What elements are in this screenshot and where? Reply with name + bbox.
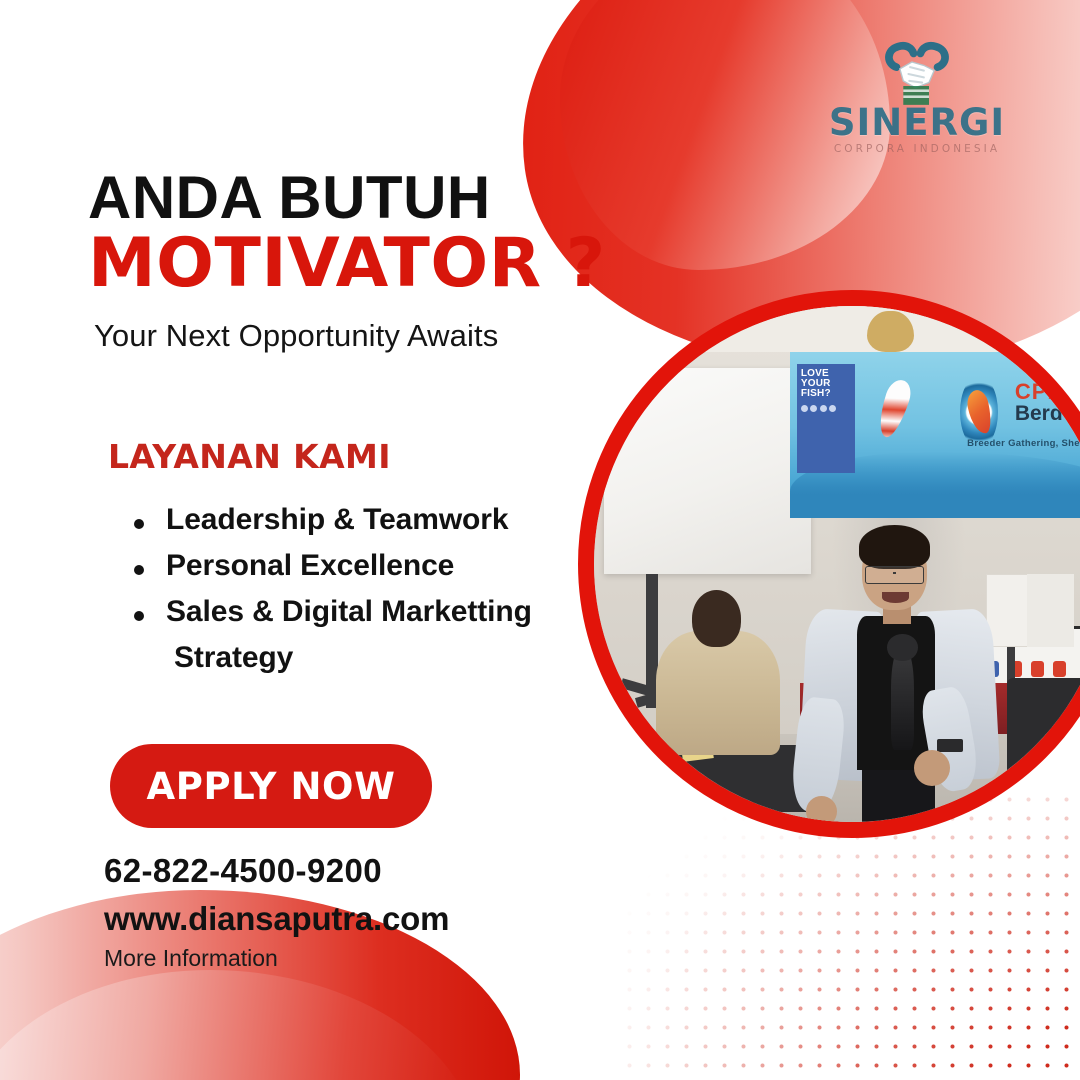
sponsor-mark xyxy=(1031,661,1044,677)
room-ceiling xyxy=(594,306,1080,352)
speaker-glasses xyxy=(865,566,923,584)
speaker-smile xyxy=(882,592,909,603)
headline-line-2: MOTIVATOR ? xyxy=(88,228,606,299)
banner-love-line3: FISH? xyxy=(801,389,851,399)
speaker-hair xyxy=(859,525,930,568)
list-item: Leadership & Teamwork xyxy=(128,497,532,543)
services-heading: LAYANAN KAMI xyxy=(108,437,391,476)
banner-dot xyxy=(820,405,827,412)
banner-dot xyxy=(801,405,808,412)
speaker-wristwatch xyxy=(937,739,963,751)
event-backdrop-banner: LOVE YOUR FISH? CPP Berd Breeder Gatheri… xyxy=(790,352,1080,517)
headline-subtitle: Your Next Opportunity Awaits xyxy=(94,318,498,354)
chair-right xyxy=(1007,678,1080,812)
projection-screen xyxy=(604,368,810,574)
brand-logo: SINERGI CORPORA INDONESIA xyxy=(812,38,1022,168)
contact-phone[interactable]: 62-822-4500-9200 xyxy=(104,852,382,890)
banner-subtitle: Breeder Gathering, Sheri xyxy=(967,438,1080,449)
koi-logo-roundel xyxy=(960,376,997,449)
sponsor-mark xyxy=(1053,661,1066,677)
photo-scene: LOVE YOUR FISH? CPP Berd Breeder Gatheri… xyxy=(594,306,1080,822)
services-list: Leadership & Teamwork Personal Excellenc… xyxy=(128,497,532,681)
speaker-photo: LOVE YOUR FISH? CPP Berd Breeder Gatheri… xyxy=(578,290,1080,838)
seated-attendee-head xyxy=(692,590,741,647)
banner-dot xyxy=(810,405,817,412)
list-item: Personal Excellence xyxy=(128,543,532,589)
content-column: ANDA BUTUH MOTIVATOR ? Your Next Opportu… xyxy=(0,0,620,1080)
list-item: Sales & Digital Marketting xyxy=(128,589,532,635)
koi-logo-fish xyxy=(964,388,994,435)
more-information-label: More Information xyxy=(104,945,278,972)
contact-website[interactable]: www.diansaputra.com xyxy=(104,900,449,938)
headline-line-1: ANDA BUTUH xyxy=(88,168,491,228)
seated-attendee-body xyxy=(656,631,780,755)
logo-wordmark: SINERGI xyxy=(829,104,1005,141)
speaker-hand-right xyxy=(914,750,950,786)
garuda-emblem xyxy=(867,311,913,352)
banner-love-your-fish-block: LOVE YOUR FISH? xyxy=(797,364,855,473)
microphone xyxy=(891,647,915,750)
list-item-continuation: Strategy xyxy=(128,635,532,681)
handshake-icon xyxy=(874,38,960,110)
flipchart-paper-second xyxy=(1027,574,1073,646)
poster-canvas: SINERGI CORPORA INDONESIA LOVE YOUR FISH… xyxy=(0,0,1080,1080)
logo-tagline: CORPORA INDONESIA xyxy=(834,143,1000,155)
banner-brand-left: CPP xyxy=(1015,379,1063,405)
koi-fish-illustration xyxy=(873,377,914,441)
banner-social-dots xyxy=(801,405,851,412)
speaker-hand-left xyxy=(806,796,837,822)
banner-brand-right: Berd xyxy=(1015,402,1063,426)
apply-now-button[interactable]: APPLY NOW xyxy=(110,744,432,828)
banner-dot xyxy=(829,405,836,412)
